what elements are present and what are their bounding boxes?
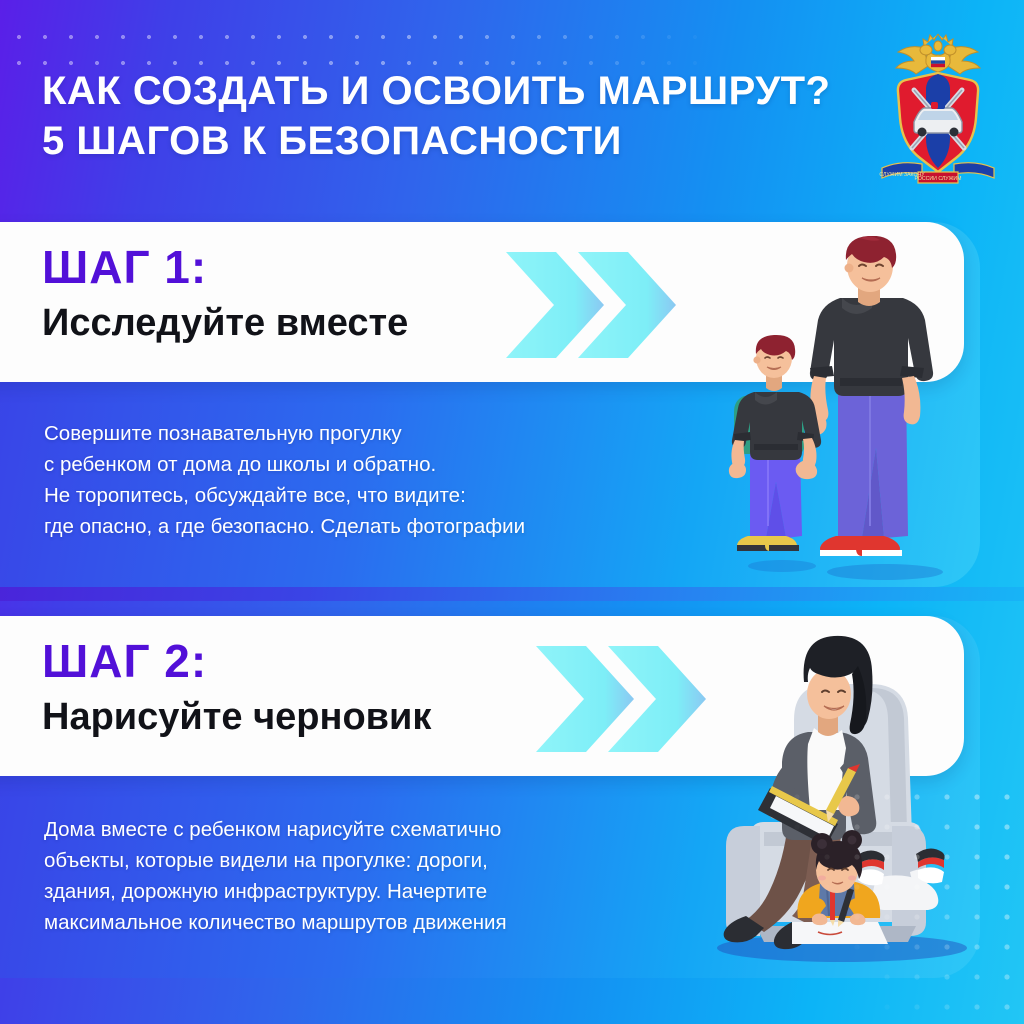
step-1-body-text: Совершите познавательную прогулку с ребе… (44, 418, 525, 542)
step-1-header: ШАГ 1: Исследуйте вместе (0, 222, 964, 382)
step-1-title: Исследуйте вместе (42, 300, 408, 346)
double-chevron-right-icon (500, 250, 700, 360)
infographic-poster: КАК СОЗДАТЬ И ОСВОИТЬ МАРШРУТ? 5 ШАГОВ К… (0, 0, 1024, 1024)
page-title: КАК СОЗДАТЬ И ОСВОИТЬ МАРШРУТ? 5 ШАГОВ К… (42, 66, 842, 166)
step-2-title: Нарисуйте черновик (42, 694, 431, 740)
step-2-body-text: Дома вместе с ребенком нарисуйте схемати… (44, 814, 507, 938)
double-chevron-right-icon (530, 644, 730, 754)
emblem-motto-center: РОССИИ СЛУЖИМ (915, 176, 962, 182)
header-section: КАК СОЗДАТЬ И ОСВОИТЬ МАРШРУТ? 5 ШАГОВ К… (0, 0, 1024, 215)
gibdd-emblem: СЛУЖИМ ЗАКОНУ РОССИИ СЛУЖИМ (874, 26, 1002, 194)
title-line-2: 5 ШАГОВ К БЕЗОПАСНОСТИ (42, 116, 842, 166)
step-2-number: ШАГ 2: (42, 636, 207, 686)
step-2-header: ШАГ 2: Нарисуйте черновик (0, 616, 964, 776)
step-card-2: ШАГ 2: Нарисуйте черновик (0, 616, 1024, 978)
title-line-1: КАК СОЗДАТЬ И ОСВОИТЬ МАРШРУТ? (42, 66, 842, 116)
step-1-number: ШАГ 1: (42, 242, 207, 292)
step-card-1: ШАГ 1: Исследуйте вместе (0, 222, 1024, 587)
card-separator-band (0, 587, 1024, 601)
